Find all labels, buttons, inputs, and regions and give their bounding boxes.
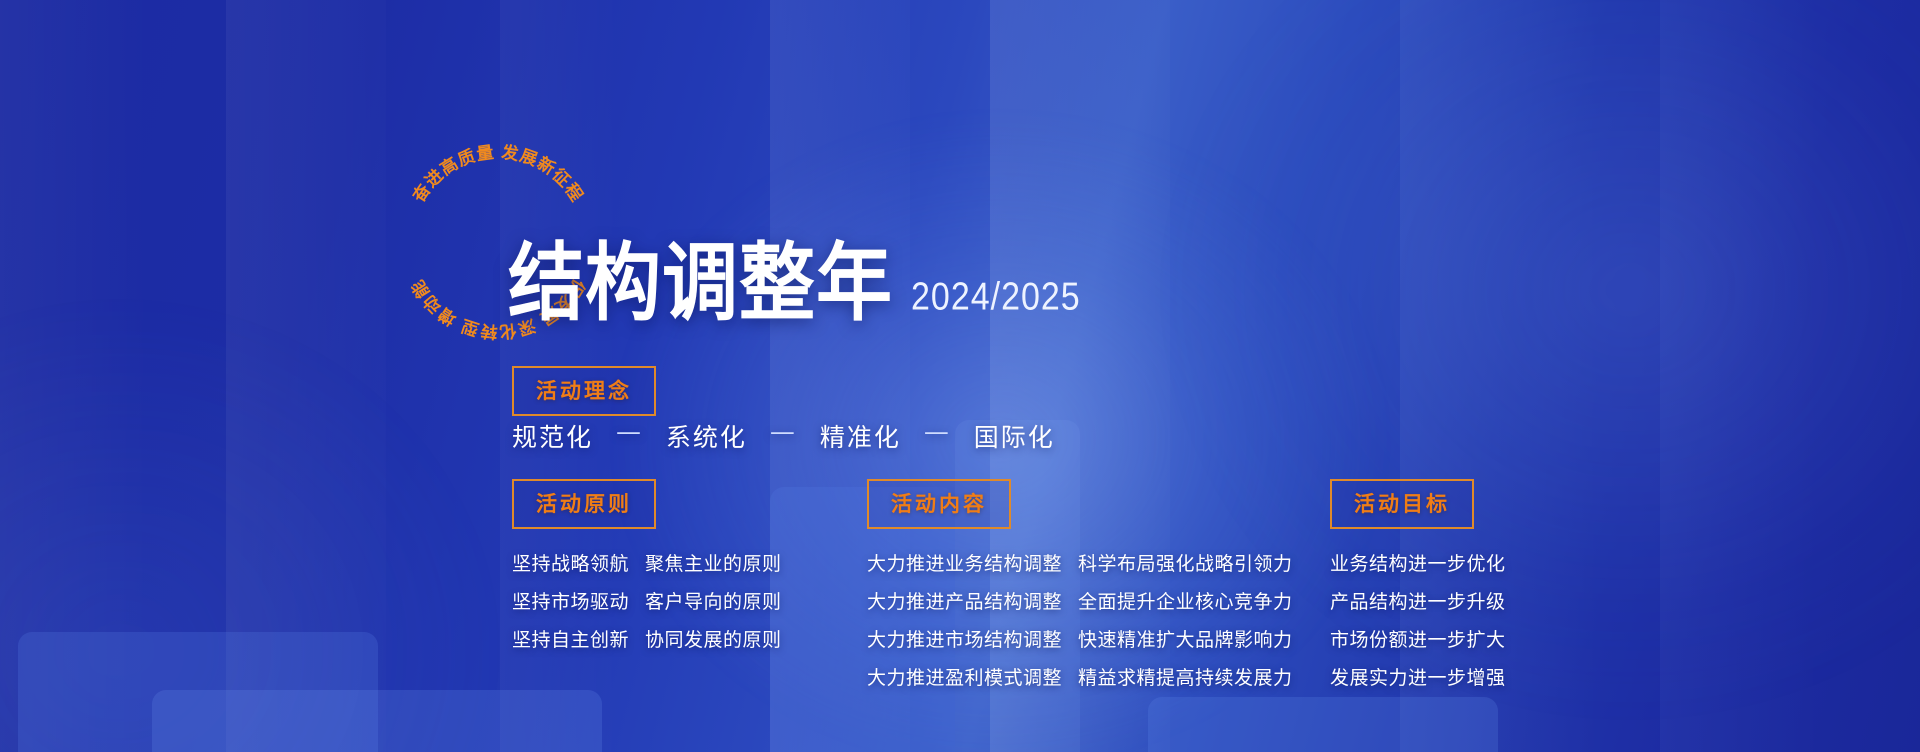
row-right: 协同发展的原则 [645, 626, 782, 654]
list-item: 产品结构进一步升级 [1330, 588, 1506, 616]
badge-concept[interactable]: 活动理念 [512, 366, 656, 416]
row-left: 大力推进产品结构调整 [867, 588, 1062, 616]
row-left: 大力推进业务结构调整 [867, 550, 1062, 578]
list-item: 大力推进盈利模式调整 精益求精提高持续发展力 [867, 664, 1293, 692]
concept-keywords: 规范化 — 系统化 — 精准化 — 国际化 [512, 418, 1055, 454]
list-item: 坚持自主创新 协同发展的原则 [512, 626, 782, 654]
list-item: 业务结构进一步优化 [1330, 550, 1506, 578]
list-item: 坚持市场驱动 客户导向的原则 [512, 588, 782, 616]
concept-keyword-1: 规范化 [512, 423, 593, 452]
badge-content[interactable]: 活动内容 [867, 479, 1011, 529]
row-left: 坚持市场驱动 [512, 588, 629, 616]
row-left: 坚持自主创新 [512, 626, 629, 654]
content-rows: 大力推进业务结构调整 科学布局强化战略引领力 大力推进产品结构调整 全面提升企业… [867, 550, 1293, 692]
concept-separator-1: — [616, 417, 643, 446]
row-right: 全面提升企业核心竞争力 [1078, 588, 1293, 616]
page-title: 结构调整年 [508, 241, 893, 326]
row-right: 客户导向的原则 [645, 588, 782, 616]
concept-separator-3: — [924, 417, 951, 446]
title-row: 结构调整年 2024/2025 [508, 250, 1081, 326]
seal-top-text: 奋进高质量 发展新征程 [408, 142, 587, 207]
row-left: 业务结构进一步优化 [1330, 550, 1506, 578]
campaign-banner: 奋进高质量 发展新征程 促发展 深化转型 增动能 结构调整年 2024/2025… [0, 0, 1920, 752]
column-principles: 活动原则 坚持战略领航 聚焦主业的原则 坚持市场驱动 客户导向的原则 坚持自主创… [512, 479, 782, 664]
list-item: 发展实力进一步增强 [1330, 664, 1506, 692]
title-year: 2024/2025 [911, 275, 1081, 320]
row-right: 快速精准扩大品牌影响力 [1078, 626, 1293, 654]
goals-rows: 业务结构进一步优化 产品结构进一步升级 市场份额进一步扩大 发展实力进一步增强 [1330, 550, 1506, 692]
badge-goals[interactable]: 活动目标 [1330, 479, 1474, 529]
concept-keyword-4: 国际化 [974, 423, 1055, 452]
badge-principles[interactable]: 活动原则 [512, 479, 656, 529]
column-goals: 活动目标 业务结构进一步优化 产品结构进一步升级 市场份额进一步扩大 发展实力进… [1330, 479, 1506, 702]
row-right: 科学布局强化战略引领力 [1078, 550, 1293, 578]
list-item: 市场份额进一步扩大 [1330, 626, 1506, 654]
row-left: 坚持战略领航 [512, 550, 629, 578]
principles-rows: 坚持战略领航 聚焦主业的原则 坚持市场驱动 客户导向的原则 坚持自主创新 协同发… [512, 550, 782, 654]
row-left: 发展实力进一步增强 [1330, 664, 1506, 692]
row-right: 精益求精提高持续发展力 [1078, 664, 1293, 692]
row-left: 市场份额进一步扩大 [1330, 626, 1506, 654]
list-item: 大力推进产品结构调整 全面提升企业核心竞争力 [867, 588, 1293, 616]
concept-separator-2: — [770, 417, 797, 446]
concept-badge-wrap: 活动理念 [512, 366, 656, 416]
list-item: 坚持战略领航 聚焦主业的原则 [512, 550, 782, 578]
column-content: 活动内容 大力推进业务结构调整 科学布局强化战略引领力 大力推进产品结构调整 全… [867, 479, 1293, 702]
list-item: 大力推进业务结构调整 科学布局强化战略引领力 [867, 550, 1293, 578]
list-item: 大力推进市场结构调整 快速精准扩大品牌影响力 [867, 626, 1293, 654]
row-left: 大力推进盈利模式调整 [867, 664, 1062, 692]
concept-keyword-3: 精准化 [820, 423, 901, 452]
row-left: 产品结构进一步升级 [1330, 588, 1506, 616]
concept-keyword-2: 系统化 [666, 423, 747, 452]
row-left: 大力推进市场结构调整 [867, 626, 1062, 654]
row-right: 聚焦主业的原则 [645, 550, 782, 578]
